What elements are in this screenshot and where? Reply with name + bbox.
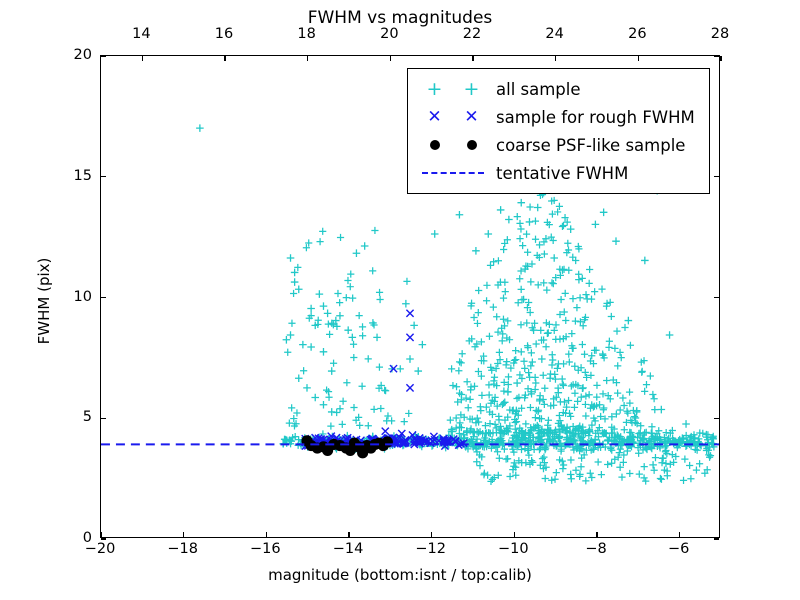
dot-marker-icon	[467, 140, 477, 150]
x-axis-top-tick-mark	[142, 56, 143, 61]
x-axis-tick-label: −18	[167, 541, 198, 557]
legend-item-psf-sample: coarse PSF-like sample	[416, 131, 699, 159]
x-axis-tick-label: −6	[668, 541, 689, 557]
legend-marker-group: + +	[416, 80, 490, 99]
series-rough-fwhm	[302, 310, 467, 450]
x-axis-top-tick-mark	[555, 56, 556, 61]
x-axis-top-tick-label: 28	[711, 26, 729, 42]
y-axis-tick-label: 5	[58, 409, 92, 425]
y-axis-tick-label: 15	[58, 168, 92, 184]
plus-marker-icon: +	[464, 80, 480, 99]
x-axis-top-tick-label: 14	[132, 26, 150, 42]
x-axis-tick-mark	[266, 532, 267, 537]
x-axis-tick-label: −14	[333, 541, 364, 557]
y-axis-tick-label: 0	[58, 530, 92, 546]
x-axis-top-tick-mark	[638, 56, 639, 61]
x-axis-tick-mark	[514, 532, 515, 537]
legend-label: tentative FWHM	[490, 164, 628, 183]
x-axis-tick-label: −8	[585, 541, 606, 557]
x-axis-tick-mark	[596, 532, 597, 537]
x-axis-tick-mark	[100, 532, 101, 537]
x-axis-top-tick-label: 26	[628, 26, 646, 42]
y-axis-tick-mark	[714, 176, 719, 177]
x-axis-tick-mark	[679, 532, 680, 537]
x-axis-label: magnitude (bottom:isnt / top:calib)	[0, 566, 800, 584]
x-axis-top-tick-mark	[720, 56, 721, 61]
legend-label: all sample	[490, 80, 581, 99]
cross-marker-icon: ✕	[427, 109, 441, 126]
legend-item-tentative-fwhm: tentative FWHM	[416, 159, 699, 187]
y-axis-tick-mark	[101, 418, 106, 419]
plus-marker-icon: +	[427, 80, 443, 99]
x-axis-top-tick-label: 20	[380, 26, 398, 42]
page-title: FWHM vs magnitudes	[0, 8, 800, 28]
x-axis-tick-mark	[183, 532, 184, 537]
y-axis-tick-mark	[714, 55, 719, 56]
dot-marker-icon	[430, 140, 440, 150]
x-axis-tick-label: −16	[250, 541, 281, 557]
y-axis-label: FWHM (pix)	[35, 61, 53, 541]
x-axis-tick-mark	[348, 532, 349, 537]
x-axis-top-tick-label: 22	[463, 26, 481, 42]
y-axis-tick-mark	[101, 297, 106, 298]
y-axis-tick-label: 20	[58, 47, 92, 63]
legend-item-all-sample: + + all sample	[416, 75, 699, 103]
y-axis-tick-mark	[714, 538, 719, 539]
y-axis-tick-mark	[714, 418, 719, 419]
x-axis-top-tick-label: 24	[545, 26, 563, 42]
x-axis-top-tick-mark	[307, 56, 308, 61]
y-axis-tick-mark	[101, 176, 106, 177]
x-axis-top-tick-mark	[472, 56, 473, 61]
legend-item-rough-fwhm: ✕ ✕ sample for rough FWHM	[416, 103, 699, 131]
x-axis-top-tick-mark	[224, 56, 225, 61]
legend-marker-group	[416, 172, 490, 174]
figure-canvas: FWHM vs magnitudes magnitude (bottom:isn…	[0, 0, 800, 600]
dashed-line-marker-icon	[422, 172, 484, 174]
legend-label: sample for rough FWHM	[490, 108, 695, 127]
x-axis-top-tick-label: 18	[297, 26, 315, 42]
legend-box: + + all sample ✕ ✕ sample for rough FWHM…	[407, 68, 710, 194]
legend-label: coarse PSF-like sample	[490, 136, 685, 155]
cross-marker-icon: ✕	[464, 109, 478, 126]
x-axis-top-tick-mark	[390, 56, 391, 61]
x-axis-top-tick-label: 16	[215, 26, 233, 42]
y-axis-tick-mark	[101, 538, 106, 539]
y-axis-tick-mark	[714, 297, 719, 298]
x-axis-tick-mark	[431, 532, 432, 537]
x-axis-tick-label: −12	[415, 541, 446, 557]
legend-marker-group: ✕ ✕	[416, 109, 490, 126]
x-axis-tick-label: −10	[498, 541, 529, 557]
y-axis-tick-label: 10	[58, 289, 92, 305]
legend-marker-group	[416, 140, 490, 150]
y-axis-tick-mark	[101, 55, 106, 56]
